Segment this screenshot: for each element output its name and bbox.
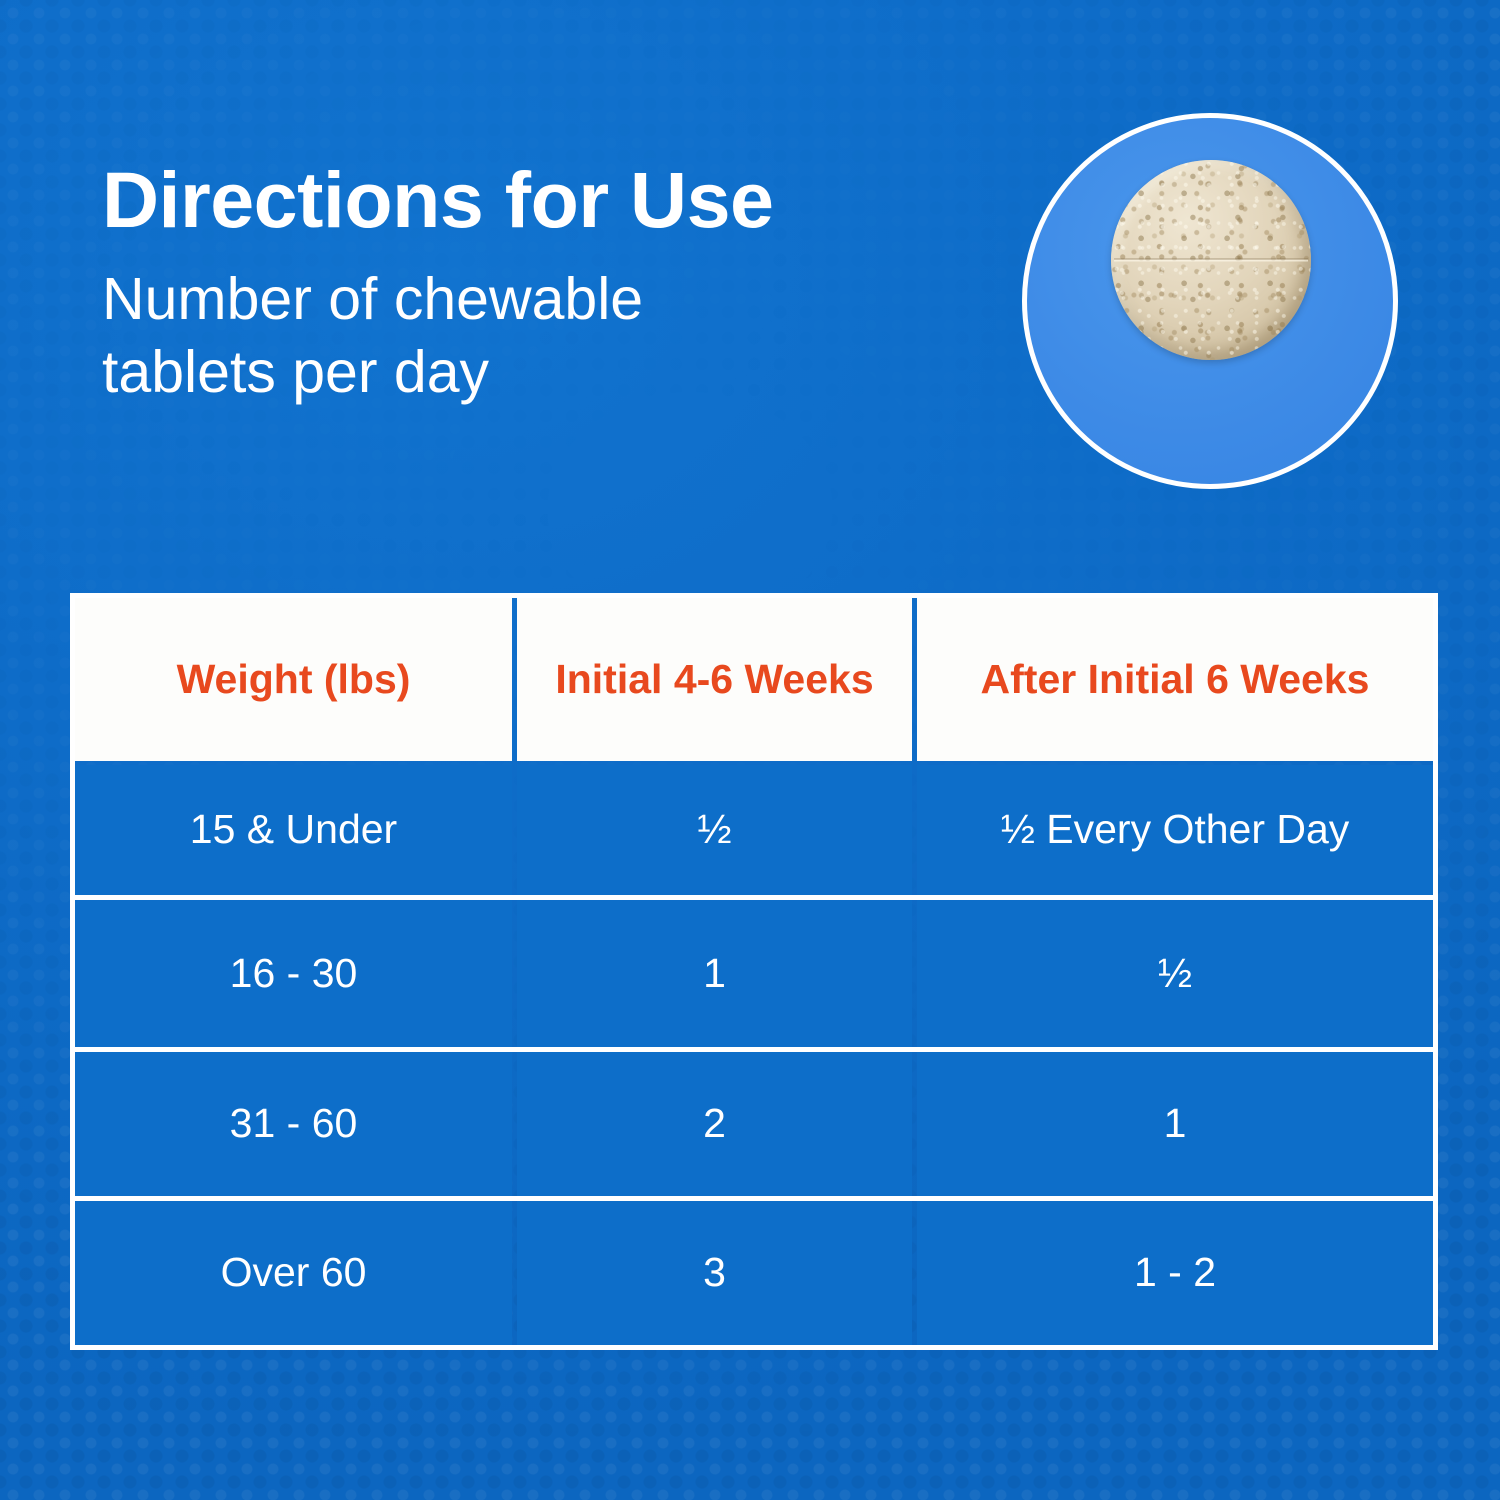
page-subtitle: Number of chewable tablets per day <box>102 263 802 409</box>
column-header-initial-weeks: Initial 4-6 Weeks <box>517 598 912 761</box>
cell-after: ½ Every Other Day <box>917 765 1433 896</box>
cell-initial: ½ <box>517 765 912 896</box>
column-header-weight: Weight (lbs) <box>75 598 512 761</box>
cell-after: 1 <box>917 1052 1433 1196</box>
cell-initial: 1 <box>517 900 912 1046</box>
cell-weight: Over 60 <box>75 1201 512 1345</box>
cell-after: 1 - 2 <box>917 1201 1433 1345</box>
cell-initial: 3 <box>517 1201 912 1345</box>
table-header-row: Weight (lbs) Initial 4-6 Weeks After Ini… <box>75 598 1433 761</box>
table-row: 15 & Under ½ ½ Every Other Day <box>75 765 1433 896</box>
table-row: 16 - 30 1 ½ <box>75 900 1433 1046</box>
directions-for-use-panel: Directions for Use Number of chewable ta… <box>0 0 1500 1500</box>
header-block: Directions for Use Number of chewable ta… <box>102 160 962 409</box>
table-row: Over 60 3 1 - 2 <box>75 1201 1433 1345</box>
cell-weight: 31 - 60 <box>75 1052 512 1196</box>
cell-after: ½ <box>917 900 1433 1046</box>
table-row: 31 - 60 2 1 <box>75 1052 1433 1196</box>
cell-weight: 16 - 30 <box>75 900 512 1046</box>
tablet-image-badge <box>1022 113 1398 489</box>
column-header-after-initial-weeks: After Initial 6 Weeks <box>917 598 1433 761</box>
dosage-table: Weight (lbs) Initial 4-6 Weeks After Ini… <box>70 593 1438 1350</box>
tablet-score-line <box>1114 259 1308 262</box>
cell-weight: 15 & Under <box>75 765 512 896</box>
cell-initial: 2 <box>517 1052 912 1196</box>
chewable-tablet-icon <box>1111 160 1311 360</box>
page-title: Directions for Use <box>102 160 962 239</box>
